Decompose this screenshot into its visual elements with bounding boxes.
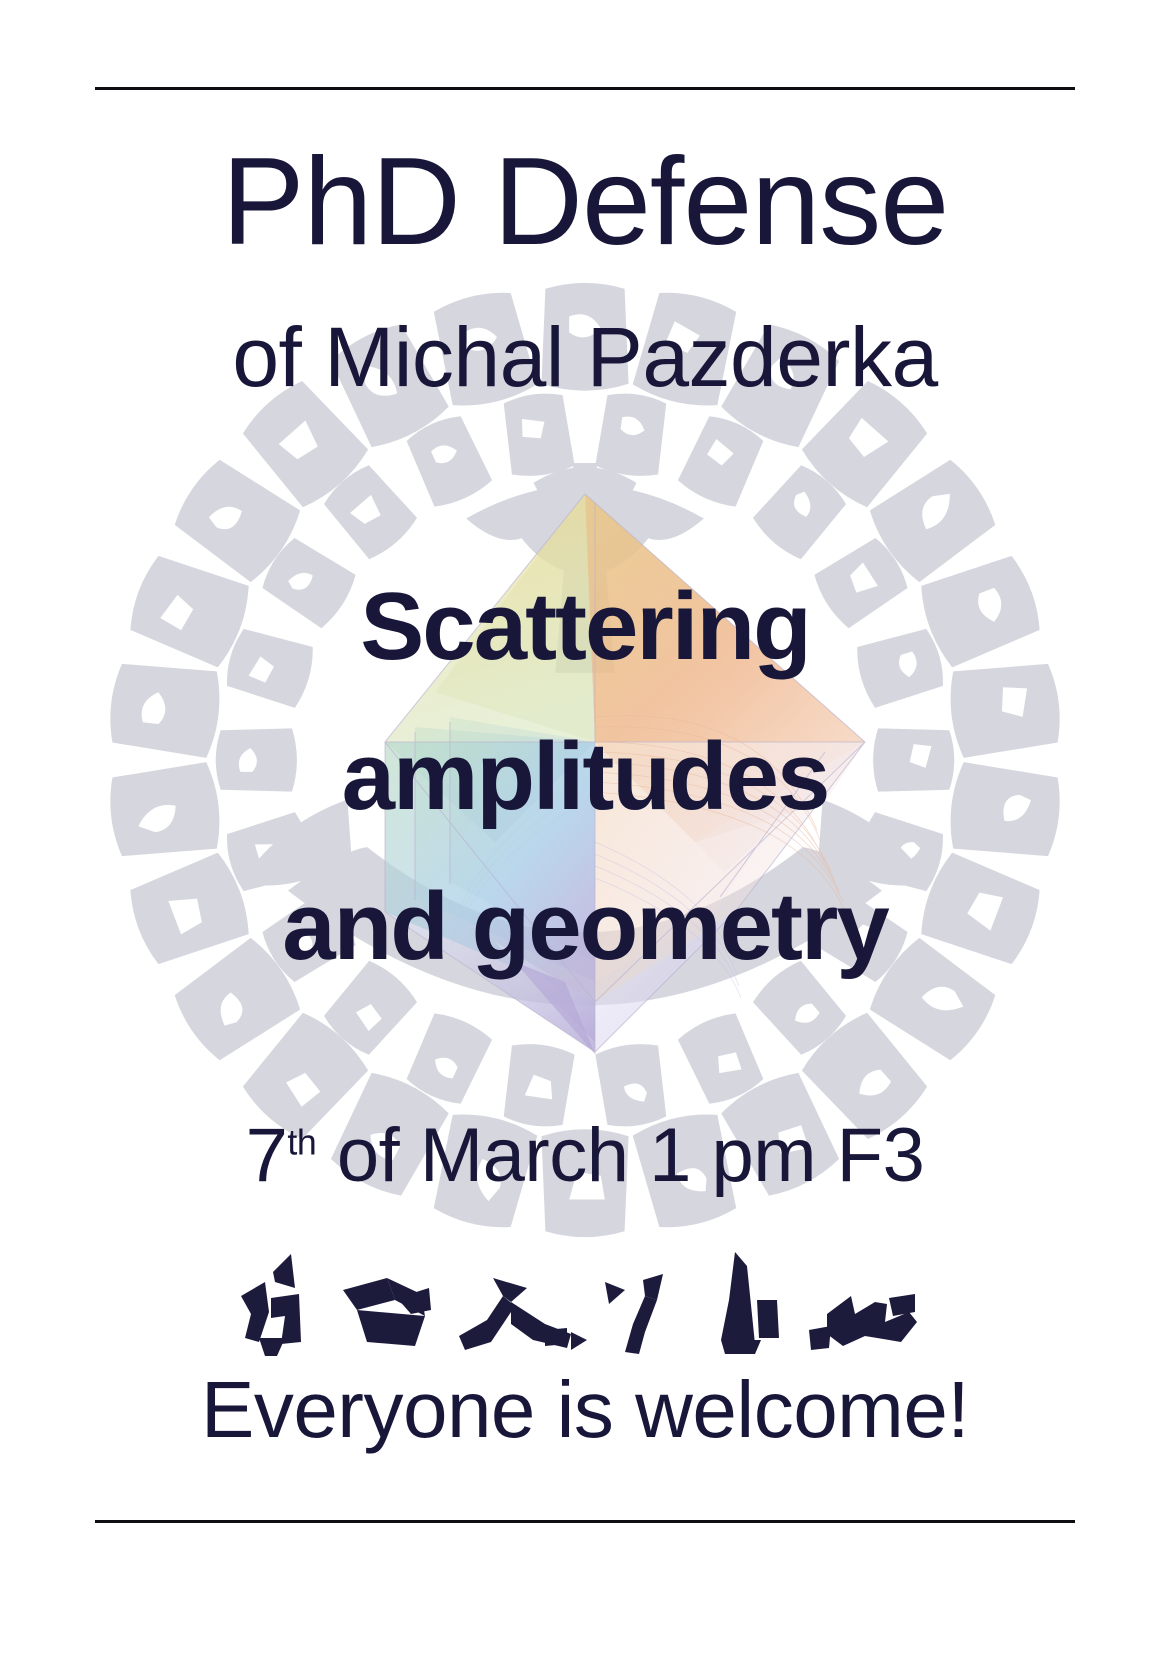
cuneiform-glyph-2: [343, 1278, 431, 1346]
poster-text-layer: PhD Defense of Michal Pazderka Scatterin…: [0, 0, 1170, 1655]
page-subtitle: of Michal Pazderka: [0, 315, 1170, 399]
event-day-number: 7: [246, 1113, 288, 1198]
headline-line-3: and geometry: [0, 878, 1170, 977]
cuneiform-glyph-1: [241, 1254, 301, 1356]
cuneiform-glyph-6: [809, 1294, 917, 1350]
event-day-ordinal: th: [287, 1123, 316, 1163]
headline-line-2: amplitudes: [0, 728, 1170, 827]
event-datetime-line: 7th of March 1 pm F3: [0, 1118, 1170, 1194]
welcome-line: Everyone is welcome!: [0, 1370, 1170, 1450]
poster-canvas: PhD Defense of Michal Pazderka Scatterin…: [0, 0, 1170, 1655]
headline-line-1: Scattering: [0, 578, 1170, 677]
cuneiform-glyph-5: [721, 1252, 779, 1354]
cuneiform-glyph-4: [605, 1274, 663, 1354]
event-datetime-rest: of March 1 pm F3: [316, 1113, 924, 1198]
page-title: PhD Defense: [0, 140, 1170, 264]
cuneiform-glyph-row: [0, 1238, 1170, 1358]
cuneiform-glyph-3: [459, 1278, 587, 1350]
